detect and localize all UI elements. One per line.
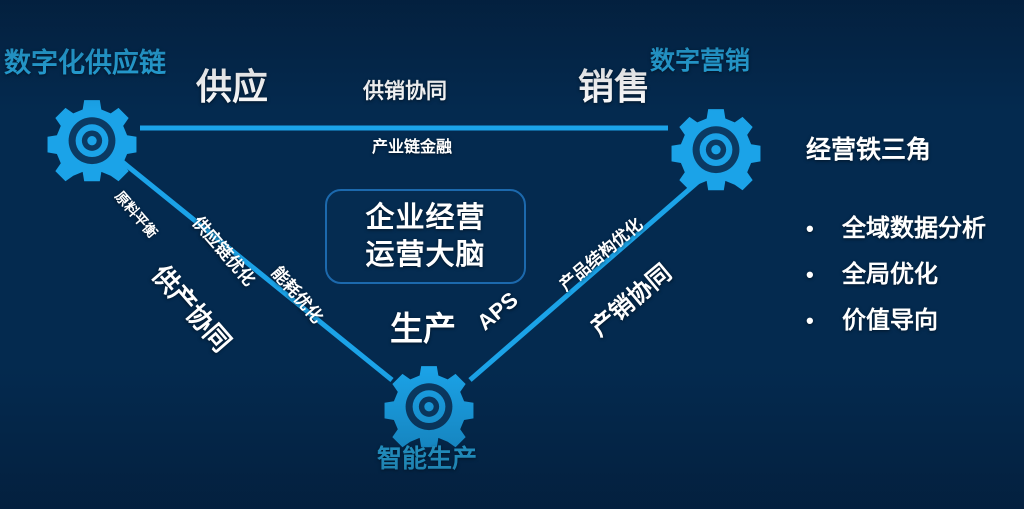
slide-canvas: 数字化供应链 数字营销 智能生产 供应 销售 生产 供销协同 产业链金融 原料平…: [0, 0, 1024, 509]
edge-label-sales-coordination: 供销协同: [363, 80, 447, 104]
list-item-label: 价值导向: [842, 300, 938, 335]
list-item: • 全局优化: [806, 254, 1021, 289]
edge-label-supply-chain-finance: 产业链金融: [372, 139, 452, 157]
edge-name-sales: 销售: [578, 66, 650, 107]
side-panel: 经营铁三角 • 全域数据分析 • 全局优化 • 价值导向: [806, 130, 1021, 346]
gear-icon-production: [385, 366, 474, 447]
center-brain-line1: 企业经营: [365, 200, 485, 236]
node-caption-marketing: 数字营销: [650, 47, 750, 76]
side-panel-list: • 全域数据分析 • 全局优化 • 价值导向: [806, 208, 1021, 335]
node-caption-supply: 数字化供应链: [4, 48, 166, 79]
bullet-icon: •: [806, 262, 842, 288]
gear-icon-marketing: [672, 109, 761, 190]
edge-name-production: 生产: [390, 310, 456, 348]
gear-icon-supply: [48, 100, 137, 181]
side-panel-title: 经营铁三角: [806, 130, 1021, 166]
edge-name-supply: 供应: [196, 66, 268, 107]
list-item: • 全域数据分析: [806, 208, 1021, 243]
center-brain-box: 企业经营 运营大脑: [325, 189, 526, 284]
list-item: • 价值导向: [806, 300, 1021, 335]
center-brain-line2: 运营大脑: [365, 237, 485, 273]
node-caption-production: 智能生产: [377, 445, 477, 474]
bullet-icon: •: [806, 308, 842, 334]
bullet-icon: •: [806, 216, 842, 242]
list-item-label: 全域数据分析: [842, 208, 986, 243]
list-item-label: 全局优化: [842, 254, 938, 289]
